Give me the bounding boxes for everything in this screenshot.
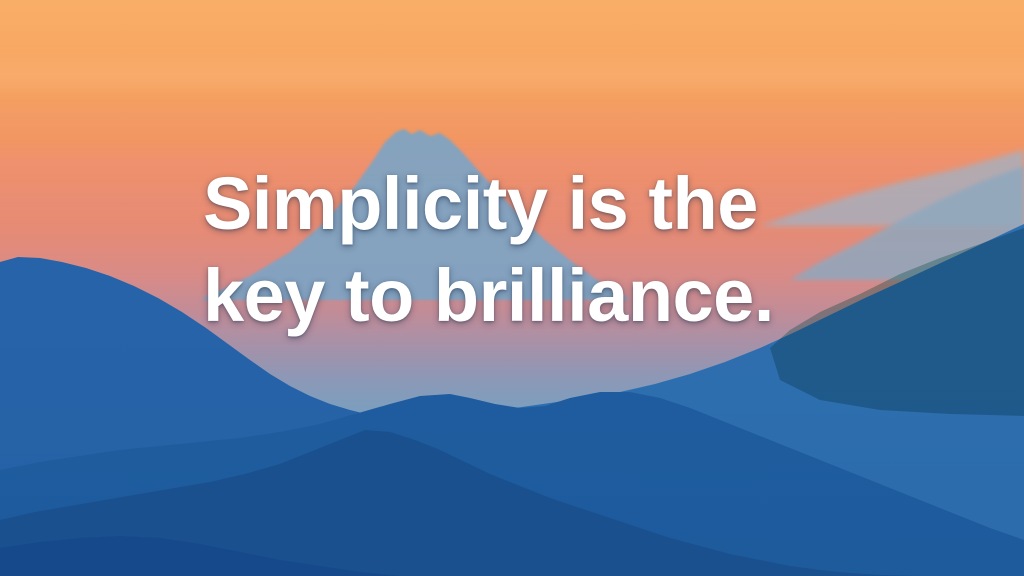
quote-text: Simplicity is the key to brilliance.: [203, 158, 903, 342]
quote-image-canvas: Simplicity is the key to brilliance.: [0, 0, 1024, 576]
